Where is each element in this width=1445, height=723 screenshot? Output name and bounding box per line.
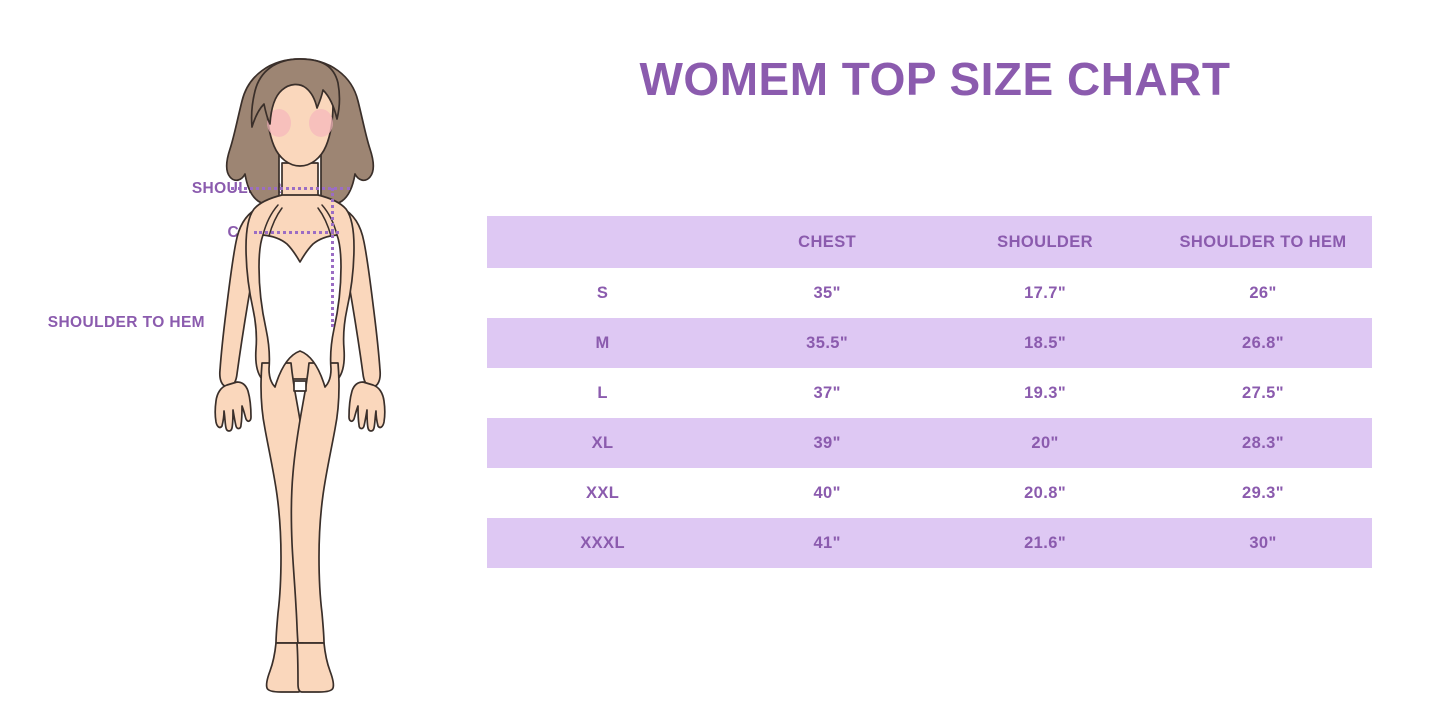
- cell-chest: 35.5": [718, 318, 936, 368]
- table-header-size: [487, 216, 718, 268]
- cell-shoulder-to-hem: 29.3": [1154, 468, 1372, 518]
- cell-chest: 41": [718, 518, 936, 568]
- cell-shoulder-to-hem: 28.3": [1154, 418, 1372, 468]
- cell-size: XXXL: [487, 518, 718, 568]
- table-row: S 35" 17.7" 26": [487, 268, 1372, 318]
- cell-shoulder: 20.8": [936, 468, 1154, 518]
- cell-chest: 35": [718, 268, 936, 318]
- table-row: XXXL 41" 21.6" 30": [487, 518, 1372, 568]
- cell-shoulder: 19.3": [936, 368, 1154, 418]
- cell-shoulder-to-hem: 26.8": [1154, 318, 1372, 368]
- table-header-shoulder: SHOULDER: [936, 216, 1154, 268]
- cell-size: M: [487, 318, 718, 368]
- cell-chest: 37": [718, 368, 936, 418]
- page-title: WOMEM TOP SIZE CHART: [470, 52, 1400, 106]
- cell-size: L: [487, 368, 718, 418]
- cell-shoulder: 21.6": [936, 518, 1154, 568]
- body-figure-svg: [150, 45, 450, 695]
- cell-size: S: [487, 268, 718, 318]
- leg-right: [291, 363, 339, 643]
- cell-chest: 40": [718, 468, 936, 518]
- cell-shoulder: 18.5": [936, 318, 1154, 368]
- hand-right: [349, 382, 385, 431]
- size-chart-table: CHEST SHOULDER SHOULDER TO HEM S 35" 17.…: [487, 216, 1372, 568]
- cell-shoulder-to-hem: 30": [1154, 518, 1372, 568]
- cell-size: XXL: [487, 468, 718, 518]
- size-chart-page: WOMEM TOP SIZE CHART SHOULDER CHEST SHOU…: [0, 0, 1445, 723]
- cell-chest: 39": [718, 418, 936, 468]
- hand-left: [215, 382, 251, 431]
- cell-shoulder: 17.7": [936, 268, 1154, 318]
- blush-right-cheek: [309, 109, 333, 137]
- table-row: L 37" 19.3" 27.5": [487, 368, 1372, 418]
- cell-shoulder: 20": [936, 418, 1154, 468]
- table-header-shoulder-to-hem: SHOULDER TO HEM: [1154, 216, 1372, 268]
- cell-shoulder-to-hem: 27.5": [1154, 368, 1372, 418]
- chest-measure-line: [254, 231, 339, 234]
- garment-gusset: [294, 381, 306, 391]
- cell-shoulder-to-hem: 26": [1154, 268, 1372, 318]
- table-header-chest: CHEST: [718, 216, 936, 268]
- female-body-illustration: [150, 45, 450, 695]
- table-row: XL 39" 20" 28.3": [487, 418, 1372, 468]
- table-row: XXL 40" 20.8" 29.3": [487, 468, 1372, 518]
- shoulder-to-hem-measure-line: [331, 188, 334, 327]
- foot-right: [297, 643, 333, 692]
- table-row: M 35.5" 18.5" 26.8": [487, 318, 1372, 368]
- table-header-row: CHEST SHOULDER SHOULDER TO HEM: [487, 216, 1372, 268]
- cell-size: XL: [487, 418, 718, 468]
